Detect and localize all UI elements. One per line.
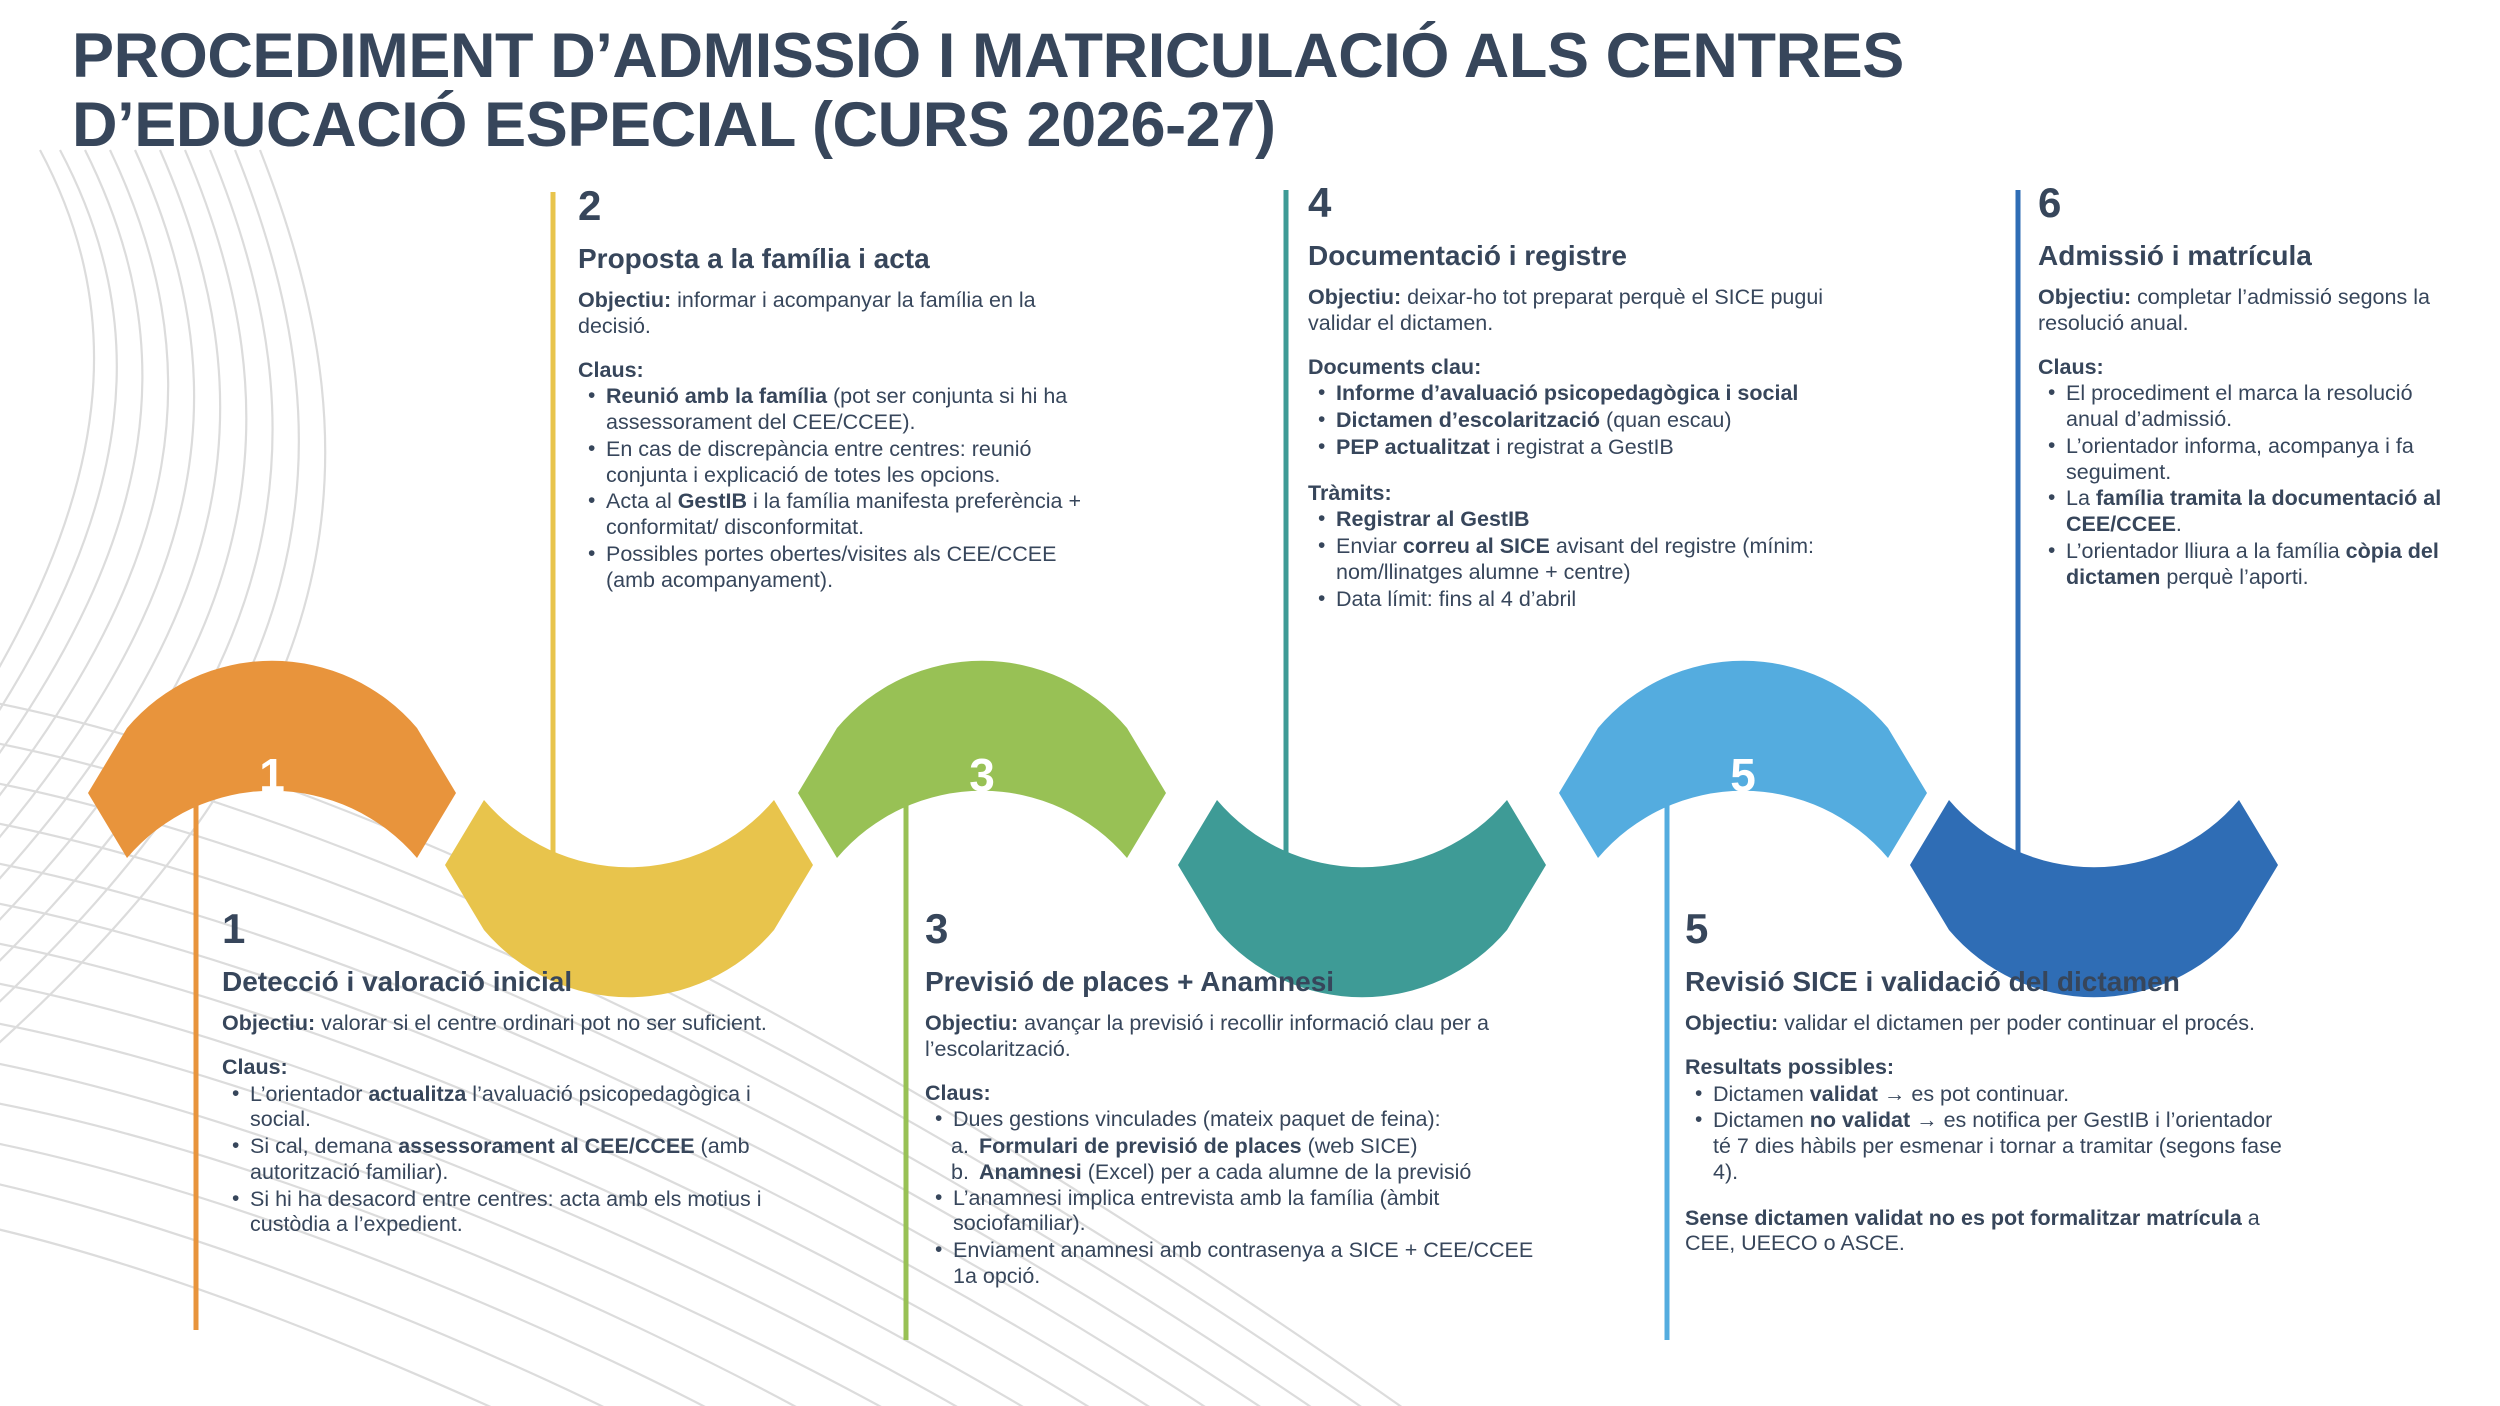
- list-item: Informe d’avaluació psicopedagògica i so…: [1310, 381, 1828, 407]
- step-number-2: 2: [578, 185, 1088, 227]
- step-block-6: 6 Admissió i matrícula Objectiu: complet…: [2038, 182, 2468, 592]
- list-item: Acta al GestIB i la família manifesta pr…: [580, 489, 1088, 541]
- list-item: L’orientador lliura a la família còpia d…: [2040, 539, 2468, 591]
- objective-label: Objectiu:: [222, 1011, 321, 1035]
- step-bullet-list-1: L’orientador actualitza l’avaluació psic…: [224, 1082, 792, 1239]
- step-objective-1: Objectiu: valorar si el centre ordinari …: [222, 1011, 792, 1037]
- objective-text: validar el dictamen per poder continuar …: [1784, 1011, 2255, 1035]
- step-heading-2: Proposta a la família i acta: [578, 243, 1088, 275]
- list-item: Dues gestions vinculades (mateix paquet …: [927, 1107, 1535, 1133]
- step-bullet-list-4-tramits: Registrar al GestIB Enviar correu al SIC…: [1310, 507, 1828, 612]
- list-item: Si cal, demana assessorament al CEE/CCEE…: [224, 1134, 792, 1186]
- step-subheading-4-documents: Documents clau:: [1308, 355, 1828, 381]
- step-objective-3: Objectiu: avançar la previsió i recollir…: [925, 1011, 1535, 1063]
- objective-label: Objectiu:: [1308, 285, 1407, 309]
- step-block-4: 4 Documentació i registre Objectiu: deix…: [1308, 182, 1828, 614]
- step-number-1: 1: [222, 908, 792, 950]
- list-item: L’orientador informa, acompanya i fa seg…: [2040, 434, 2468, 486]
- arc-number-4: 4: [1322, 825, 1402, 871]
- list-item: El procediment el marca la resolució anu…: [2040, 381, 2468, 433]
- page-title-line-1: PROCEDIMENT D’ADMISSIÓ I MATRICULACIÓ AL…: [72, 22, 2362, 91]
- step-heading-6: Admissió i matrícula: [2038, 240, 2468, 272]
- list-item: Formulari de previsió de places (web SIC…: [951, 1134, 1535, 1160]
- list-item: L’orientador actualitza l’avaluació psic…: [224, 1082, 792, 1134]
- step-heading-5: Revisió SICE i validació del dictamen: [1685, 966, 2285, 998]
- step-block-1: 1 Detecció i valoració inicial Objectiu:…: [222, 908, 792, 1239]
- list-item: Registrar al GestIB: [1310, 507, 1828, 533]
- list-item: Dictamen d’escolarització (quan escau): [1310, 408, 1828, 434]
- list-item: Possibles portes obertes/visites als CEE…: [580, 542, 1088, 594]
- list-item: PEP actualitzat i registrat a GestIB: [1310, 435, 1828, 461]
- step-number-5: 5: [1685, 908, 2285, 950]
- step-ordered-list-3: Formulari de previsió de places (web SIC…: [951, 1134, 1535, 1186]
- arc-number-3: 3: [942, 752, 1022, 798]
- objective-text: valorar si el centre ordinari pot no ser…: [321, 1011, 767, 1035]
- step-bullet-list-6: El procediment el marca la resolució anu…: [2040, 381, 2468, 590]
- list-item: Anamnesi (Excel) per a cada alumne de la…: [951, 1160, 1535, 1186]
- objective-label: Objectiu:: [578, 288, 677, 312]
- step-block-2: 2 Proposta a la família i acta Objectiu:…: [578, 185, 1088, 595]
- step-subheading-2: Claus:: [578, 358, 1088, 384]
- step-block-3: 3 Previsió de places + Anamnesi Objectiu…: [925, 908, 1535, 1291]
- step-note-5: Sense dictamen validat no es pot formali…: [1685, 1206, 2285, 1258]
- step-number-4: 4: [1308, 182, 1828, 224]
- objective-label: Objectiu:: [1685, 1011, 1784, 1035]
- page-title: PROCEDIMENT D’ADMISSIÓ I MATRICULACIÓ AL…: [72, 22, 2362, 161]
- step-objective-6: Objectiu: completar l’admissió segons la…: [2038, 285, 2468, 337]
- step-heading-4: Documentació i registre: [1308, 240, 1828, 272]
- list-item: Data límit: fins al 4 d’abril: [1310, 587, 1828, 613]
- list-item: Si hi ha desacord entre centres: acta am…: [224, 1187, 792, 1239]
- step-number-6: 6: [2038, 182, 2468, 224]
- list-item: L’anamnesi implica entrevista amb la fam…: [927, 1186, 1535, 1238]
- step-bullet-list-3-pre: Dues gestions vinculades (mateix paquet …: [927, 1107, 1535, 1133]
- step-subheading-1: Claus:: [222, 1055, 792, 1081]
- step-objective-4: Objectiu: deixar-ho tot preparat perquè …: [1308, 285, 1828, 337]
- step-bullet-list-3-post: L’anamnesi implica entrevista amb la fam…: [927, 1186, 1535, 1290]
- step-block-5: 5 Revisió SICE i validació del dictamen …: [1685, 908, 2285, 1257]
- step-objective-5: Objectiu: validar el dictamen per poder …: [1685, 1011, 2285, 1037]
- step-objective-2: Objectiu: informar i acompanyar la famíl…: [578, 288, 1088, 340]
- step-bullet-list-5: Dictamen validat → es pot continuar. Dic…: [1687, 1082, 2285, 1186]
- list-item: En cas de discrepància entre centres: re…: [580, 437, 1088, 489]
- list-item: Enviament anamnesi amb contrasenya a SIC…: [927, 1238, 1535, 1290]
- arc-number-1: 1: [232, 752, 312, 798]
- list-item: Reunió amb la família (pot ser conjunta …: [580, 384, 1088, 436]
- step-bullet-list-4-documents: Informe d’avaluació psicopedagògica i so…: [1310, 381, 1828, 460]
- step-number-3: 3: [925, 908, 1535, 950]
- arc-number-5: 5: [1703, 752, 1783, 798]
- step-heading-1: Detecció i valoració inicial: [222, 966, 792, 998]
- objective-label: Objectiu:: [2038, 285, 2137, 309]
- list-item: Enviar correu al SICE avisant del regist…: [1310, 534, 1828, 586]
- step-bullet-list-2: Reunió amb la família (pot ser conjunta …: [580, 384, 1088, 593]
- list-item: Dictamen no validat → es notifica per Ge…: [1687, 1108, 2285, 1185]
- step-subheading-6: Claus:: [2038, 355, 2468, 381]
- step-subheading-3: Claus:: [925, 1081, 1535, 1107]
- list-item: Dictamen validat → es pot continuar.: [1687, 1082, 2285, 1108]
- step-heading-3: Previsió de places + Anamnesi: [925, 966, 1535, 998]
- objective-label: Objectiu:: [925, 1011, 1024, 1035]
- arc-number-2: 2: [589, 825, 669, 871]
- page-title-line-2: D’EDUCACIÓ ESPECIAL (CURS 2026-27): [72, 91, 2362, 160]
- list-item: La família tramita la documentació al CE…: [2040, 486, 2468, 538]
- step-subheading-5: Resultats possibles:: [1685, 1055, 2285, 1081]
- arc-number-6: 6: [2054, 825, 2134, 871]
- step-subheading-4-tramits: Tràmits:: [1308, 481, 1828, 507]
